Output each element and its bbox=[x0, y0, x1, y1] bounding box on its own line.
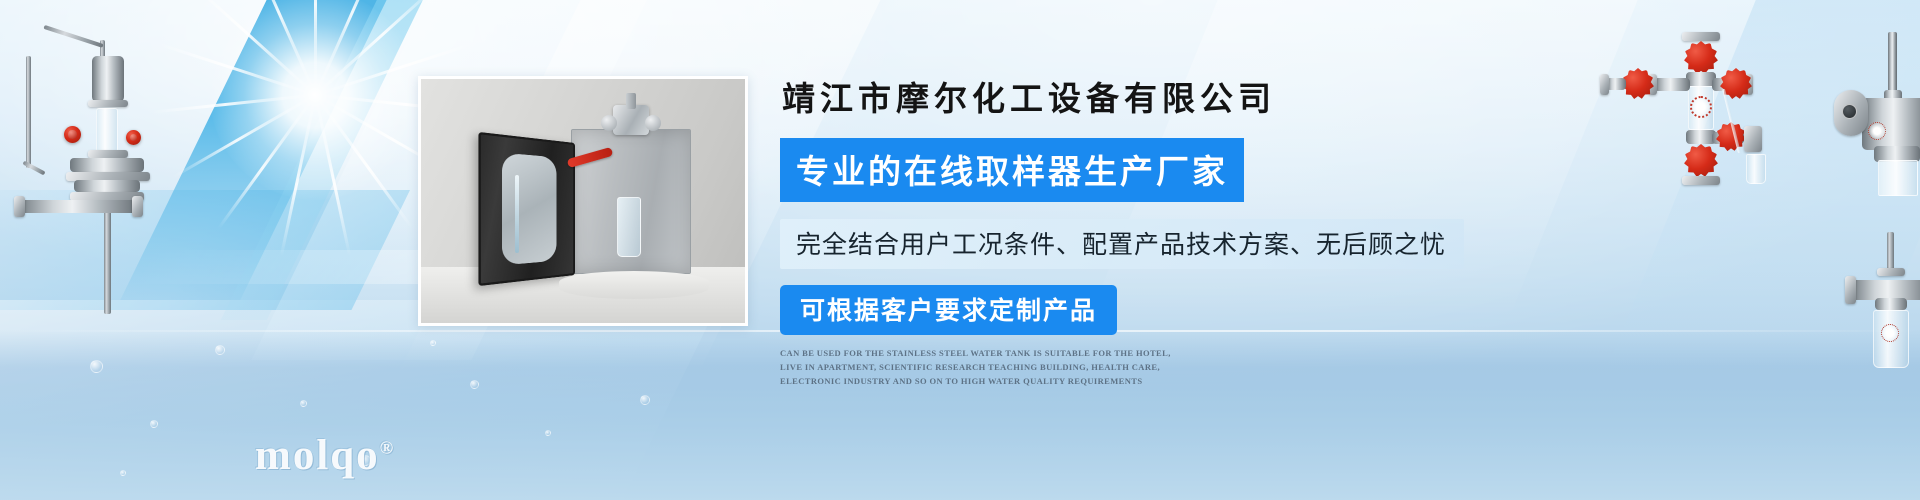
company-name: 靖江市摩尔化工设备有限公司 bbox=[780, 72, 1400, 120]
watermark-text: molqo bbox=[255, 432, 380, 479]
product-seal-logo bbox=[1690, 96, 1712, 118]
photo-sample-bottle bbox=[617, 197, 641, 257]
droplet-decoration bbox=[300, 400, 307, 407]
photo-cabinet-door bbox=[478, 132, 575, 286]
droplet-decoration bbox=[120, 470, 126, 476]
photo-valve-head bbox=[599, 95, 663, 143]
custom-product-cta[interactable]: 可根据客户要求定制产品 bbox=[780, 285, 1117, 335]
valve-product-image bbox=[1832, 28, 1920, 198]
promotional-banner: 靖江市摩尔化工设备有限公司 专业的在线取样器生产厂家 完全结合用户工况条件、配置… bbox=[0, 0, 1920, 500]
photo-tube bbox=[515, 175, 519, 253]
watermark-logo: molqo® bbox=[255, 431, 395, 480]
small-product-seal-logo bbox=[1881, 324, 1899, 342]
droplet-decoration bbox=[470, 380, 479, 389]
droplet-decoration bbox=[430, 340, 436, 346]
center-product-photo bbox=[418, 76, 748, 326]
sub-headline: 完全结合用户工况条件、配置产品技术方案、无后顾之忧 bbox=[780, 219, 1464, 269]
headline-badge: 专业的在线取样器生产厂家 bbox=[780, 138, 1244, 202]
watermark-registered-mark: ® bbox=[380, 438, 395, 458]
droplet-decoration bbox=[640, 395, 650, 405]
droplet-decoration bbox=[90, 360, 103, 373]
valve-seal-logo bbox=[1868, 122, 1886, 140]
banner-text-block: 靖江市摩尔化工设备有限公司 专业的在线取样器生产厂家 完全结合用户工况条件、配置… bbox=[780, 72, 1400, 388]
droplet-decoration bbox=[150, 420, 158, 428]
droplet-decoration bbox=[215, 345, 225, 355]
small-product-image bbox=[1835, 232, 1920, 392]
english-description: CAN BE USED FOR THE STAINLESS STEEL WATE… bbox=[780, 346, 1180, 388]
droplet-decoration bbox=[545, 430, 551, 436]
left-product-image bbox=[8, 30, 168, 305]
photo-table-base bbox=[559, 271, 709, 299]
cross-product-image bbox=[1580, 28, 1820, 168]
